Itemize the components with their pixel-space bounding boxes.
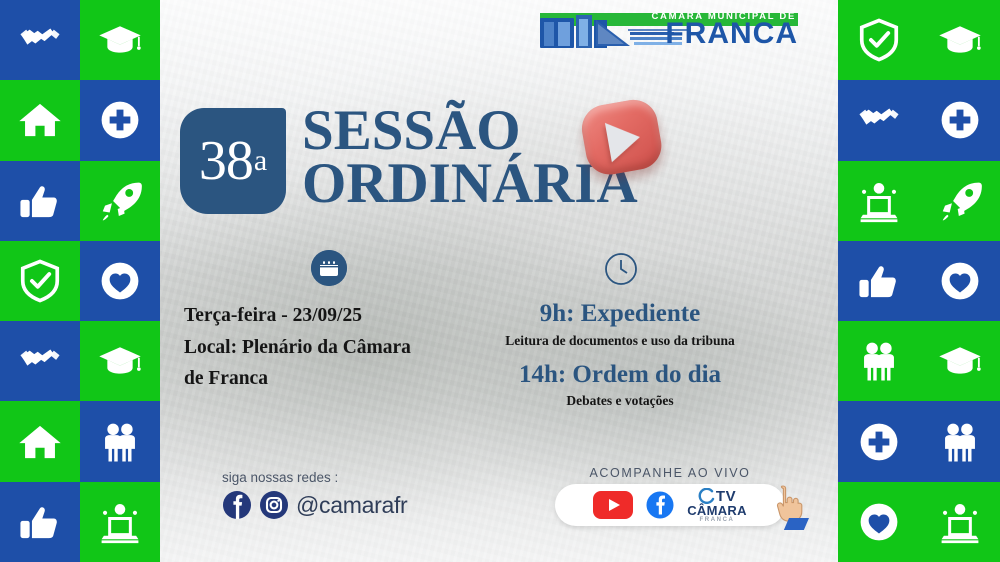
- handshake-icon: [17, 17, 63, 63]
- live-label: ACOMPANHE AO VIVO: [555, 466, 785, 480]
- heart-circle-icon: [856, 499, 902, 545]
- graduation-cap-icon: [937, 17, 983, 63]
- medical-cross-icon: [937, 97, 983, 143]
- tv-logo-line3: FRANCA: [700, 517, 735, 523]
- schedule-heading-1: 14h: Ordem do dia: [470, 361, 770, 390]
- play-triangle: [605, 117, 643, 162]
- border-tile-thumbs-up: [0, 482, 80, 562]
- calendar-icon: [311, 250, 347, 286]
- live-platforms-pill: TV CÂMARA FRANCA: [555, 484, 785, 526]
- badge-ordinal: a: [254, 146, 267, 176]
- schedule-desc-1: Debates e votações: [470, 393, 770, 409]
- online-learning-icon: [856, 178, 902, 224]
- graduation-cap-icon: [97, 17, 143, 63]
- heart-circle-icon: [937, 258, 983, 304]
- facebook-icon[interactable]: [646, 491, 674, 519]
- session-date: Terça-feira - 23/09/25: [184, 300, 474, 332]
- clock-icon: [602, 250, 638, 286]
- border-tile-home: [0, 80, 80, 160]
- border-tile-heart-circle: [80, 241, 160, 321]
- graduation-cap-icon: [937, 338, 983, 384]
- border-tile-shield-check: [0, 241, 80, 321]
- shield-check-icon: [17, 258, 63, 304]
- border-tile-home: [0, 401, 80, 481]
- rocket-icon: [937, 178, 983, 224]
- border-tile-heart-circle: [838, 482, 919, 562]
- medical-cross-icon: [856, 419, 902, 465]
- facebook-icon[interactable]: [222, 490, 252, 520]
- graduation-cap-icon: [97, 338, 143, 384]
- session-announcement-poster: CÂMARA MUNICIPAL DE FRANCA 38a SESSÃO OR…: [0, 0, 1000, 562]
- border-tile-graduation-cap: [80, 321, 160, 401]
- thumbs-up-icon: [17, 178, 63, 224]
- border-tile-online-learning: [919, 482, 1000, 562]
- border-tile-heart-circle: [919, 241, 1000, 321]
- live-broadcast-section: ACOMPANHE AO VIVO: [555, 466, 785, 526]
- logo-title: FRANCA: [665, 19, 798, 49]
- title-block: 38a SESSÃO ORDINÁRIA: [180, 104, 740, 234]
- instagram-icon[interactable]: [259, 490, 289, 520]
- border-tile-shield-check: [838, 0, 919, 80]
- session-number-badge: 38a: [180, 108, 286, 214]
- schedule-desc-0: Leitura de documentos e uso da tribuna: [470, 333, 770, 349]
- border-tile-people: [80, 401, 160, 481]
- event-details-column: Terça-feira - 23/09/25 Local: Plenário d…: [184, 250, 474, 395]
- border-tile-rocket: [80, 161, 160, 241]
- border-tile-graduation-cap: [80, 0, 160, 80]
- heart-circle-icon: [97, 258, 143, 304]
- handshake-icon: [17, 338, 63, 384]
- shield-check-icon: [856, 17, 902, 63]
- border-tile-graduation-cap: [919, 0, 1000, 80]
- online-learning-icon: [97, 499, 143, 545]
- home-icon: [17, 97, 63, 143]
- schedule-heading-0: 9h: Expediente: [470, 300, 770, 329]
- pointing-hand-cursor-icon: [765, 482, 809, 530]
- border-tile-online-learning: [838, 161, 919, 241]
- schedule-column: 9h: Expediente Leitura de documentos e u…: [470, 250, 770, 421]
- border-tile-graduation-cap: [919, 321, 1000, 401]
- tv-logo-line1: TV: [716, 489, 736, 504]
- medical-cross-icon: [97, 97, 143, 143]
- tv-camara-logo[interactable]: TV CÂMARA FRANCA: [687, 488, 747, 523]
- border-tile-handshake: [0, 0, 80, 80]
- handshake-icon: [856, 97, 902, 143]
- content-panel: CÂMARA MUNICIPAL DE FRANCA 38a SESSÃO OR…: [160, 0, 838, 562]
- play-button-3d-icon: [571, 89, 675, 189]
- online-learning-icon: [937, 499, 983, 545]
- thumbs-up-icon: [17, 499, 63, 545]
- rocket-icon: [97, 178, 143, 224]
- border-tile-handshake: [0, 321, 80, 401]
- border-tile-medical-cross: [80, 80, 160, 160]
- border-tile-thumbs-up: [0, 161, 80, 241]
- border-tile-medical-cross: [838, 401, 919, 481]
- border-tile-thumbs-up: [838, 241, 919, 321]
- youtube-icon[interactable]: [593, 491, 633, 519]
- border-tile-handshake: [838, 80, 919, 160]
- session-place-line2: de Franca: [184, 363, 474, 395]
- tv-logo-line2: CÂMARA: [687, 504, 747, 517]
- social-handle: @camarafr: [296, 492, 407, 519]
- people-icon: [937, 419, 983, 465]
- home-icon: [17, 419, 63, 465]
- thumbs-up-icon: [856, 258, 902, 304]
- people-icon: [856, 338, 902, 384]
- people-icon: [97, 419, 143, 465]
- border-tile-rocket: [919, 161, 1000, 241]
- border-tile-online-learning: [80, 482, 160, 562]
- right-icon-border: [838, 0, 1000, 562]
- left-icon-border: [0, 0, 160, 562]
- border-tile-people: [919, 401, 1000, 481]
- border-tile-medical-cross: [919, 80, 1000, 160]
- session-place-line1: Local: Plenário da Câmara: [184, 332, 474, 364]
- social-label: siga nossas redes :: [222, 470, 472, 485]
- tv-swoosh-icon: [698, 488, 715, 504]
- border-tile-people: [838, 321, 919, 401]
- badge-number: 38: [199, 133, 253, 189]
- camara-franca-logo: CÂMARA MUNICIPAL DE FRANCA: [528, 6, 800, 52]
- social-media-section: siga nossas redes : @camarafr: [222, 470, 472, 520]
